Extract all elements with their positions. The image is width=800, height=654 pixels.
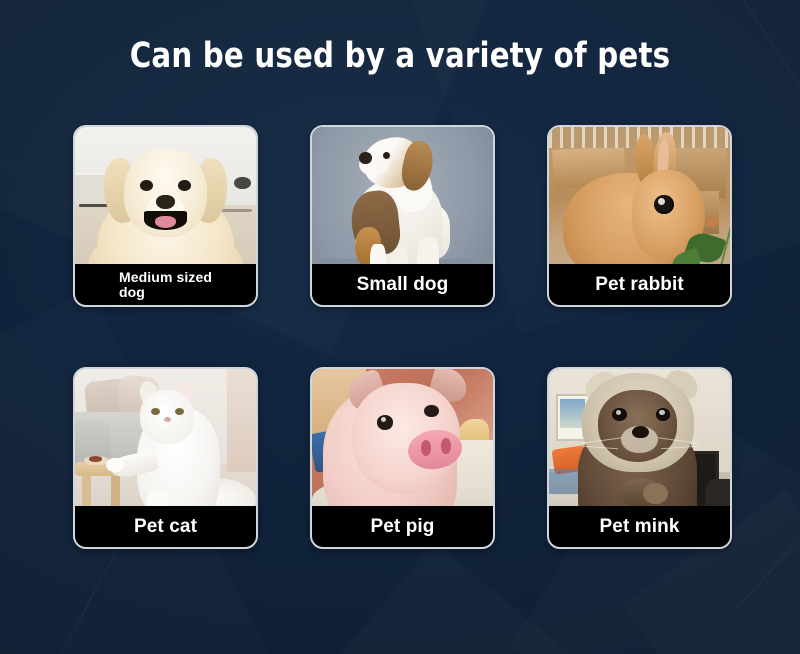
pet-card-label: Medium sized dog	[75, 264, 256, 305]
promo-banner: Can be used by a variety of pets	[0, 0, 800, 654]
pet-card-label-text: Pet cat	[134, 517, 197, 536]
pet-card-small-dog[interactable]: Small dog	[310, 125, 495, 307]
pet-card-medium-dog[interactable]: Medium sized dog	[73, 125, 258, 307]
pet-card-grid: Medium sized dog	[73, 125, 728, 549]
pet-card-label-text: Medium sized dog	[119, 270, 212, 300]
pet-card-label: Small dog	[312, 264, 493, 305]
page-title: Can be used by a variety of pets	[28, 36, 772, 76]
pet-card-label: Pet rabbit	[549, 264, 730, 305]
pet-card-label: Pet pig	[312, 506, 493, 547]
pet-card-label-text: Small dog	[357, 275, 449, 294]
pet-card-pig[interactable]: Pet pig	[310, 367, 495, 549]
pet-card-rabbit[interactable]: Pet rabbit	[547, 125, 732, 307]
pet-card-mink[interactable]: Pet mink	[547, 367, 732, 549]
pet-card-cat[interactable]: Pet cat	[73, 367, 258, 549]
pet-card-label-text: Pet rabbit	[595, 275, 684, 294]
pet-card-label: Pet cat	[75, 506, 256, 547]
pet-card-label-text: Pet mink	[600, 517, 680, 536]
pet-card-label-text: Pet pig	[370, 517, 434, 536]
pet-card-label: Pet mink	[549, 506, 730, 547]
